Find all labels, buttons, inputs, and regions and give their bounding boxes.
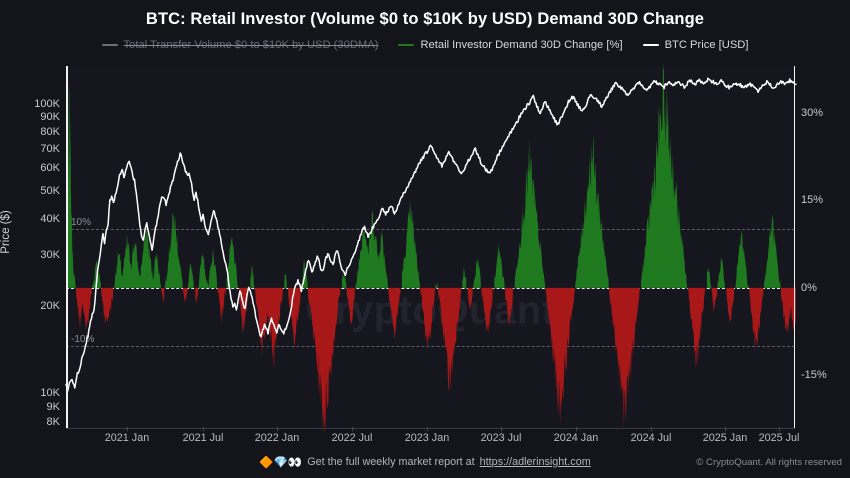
x-tick-2025-Jul: 2025 Jul (759, 432, 800, 444)
y-axis-left-ticks: 100K90K80K70K60K50K40K30K20K10K9K8K (0, 0, 60, 478)
y2-tick-30pct: 30% (801, 107, 823, 119)
legend-swatch-btc-price (643, 44, 659, 46)
y-tick-80K: 80K (40, 126, 60, 138)
x-tickmark-3 (352, 427, 353, 431)
x-tick-2022-Jul: 2022 Jul (332, 432, 373, 444)
series-retail-demand-positive (66, 62, 781, 288)
chart-legend: Total Transfer Volume $0 to $10K by USD … (0, 39, 850, 51)
y-tick-8K: 8K (47, 416, 60, 428)
x-tickmark-7 (651, 427, 652, 431)
y-tick-30K: 30K (40, 249, 60, 261)
y-tick-90K: 90K (40, 111, 60, 123)
x-tickmark-1 (203, 427, 204, 431)
y-tick-9K: 9K (47, 401, 60, 413)
y2-tick-15pct: 15% (801, 194, 823, 206)
x-tickmark-9 (779, 427, 780, 431)
y-tick-20K: 20K (40, 300, 60, 312)
legend-label-retail-investor-demand: Retail Investor Demand 30D Change [%] (420, 39, 622, 51)
chart-screenshot: BTC: Retail Investor (Volume $0 to $10K … (0, 0, 850, 478)
x-tickmark-0 (127, 427, 128, 431)
x-tick-2024-Jul: 2024 Jul (631, 432, 672, 444)
y-tick-60K: 60K (40, 162, 60, 174)
legend-item-retail-investor-demand[interactable]: Retail Investor Demand 30D Change [%] (398, 39, 622, 51)
x-tick-2023-Jan: 2023 Jan (405, 432, 449, 444)
legend-item-btc-price[interactable]: BTC Price [USD] (643, 39, 749, 51)
legend-swatch-total-transfer-volume (102, 44, 118, 46)
axis-spine-right (794, 66, 796, 428)
footer-text: Get the full weekly market report at (307, 456, 474, 468)
y2-tick-0pct: 0% (801, 282, 817, 294)
series-canvas (66, 66, 795, 428)
x-tickmark-4 (427, 427, 428, 431)
footer-report-link[interactable]: https://adlerinsight.com (480, 456, 591, 468)
legend-label-btc-price: BTC Price [USD] (665, 39, 749, 51)
x-tick-2025-Jan: 2025 Jan (703, 432, 747, 444)
x-tick-2021-Jul: 2021 Jul (183, 432, 224, 444)
y-tick-40K: 40K (40, 213, 60, 225)
x-tickmark-6 (576, 427, 577, 431)
axis-spine-bottom (66, 428, 795, 429)
y-tick-70K: 70K (40, 143, 60, 155)
x-tick-2023-Jul: 2023 Jul (481, 432, 522, 444)
legend-swatch-retail-investor-demand (398, 44, 414, 46)
x-tick-2024-Jan: 2024 Jan (554, 432, 598, 444)
plot-area: CryptoQuant 10%-10% (66, 66, 795, 428)
series-retail-demand-negative (76, 288, 796, 436)
x-tickmark-8 (725, 427, 726, 431)
footer-bar: 🔶💎👀 Get the full weekly market report at… (0, 452, 850, 478)
x-tickmark-2 (277, 427, 278, 431)
footer-copyright: © CryptoQuant. All rights reserved (696, 457, 842, 468)
legend-label-total-transfer-volume: Total Transfer Volume $0 to $10K by USD … (124, 39, 379, 51)
axis-spine-left (66, 66, 68, 428)
page-title: BTC: Retail Investor (Volume $0 to $10K … (0, 10, 850, 29)
y-tick-50K: 50K (40, 185, 60, 197)
y2-tick--15pct: -15% (801, 369, 827, 381)
diamonds-eyes-emoji: 🔶💎👀 (259, 455, 302, 469)
legend-item-total-transfer-volume[interactable]: Total Transfer Volume $0 to $10K by USD … (102, 39, 379, 51)
footer-promo: 🔶💎👀 Get the full weekly market report at… (259, 455, 590, 469)
x-tickmark-5 (501, 427, 502, 431)
y-tick-100K: 100K (34, 98, 60, 110)
y-axis-right-ticks: 30%15%0%-15% (801, 0, 849, 478)
x-tick-2022-Jan: 2022 Jan (255, 432, 299, 444)
y-tick-10K: 10K (40, 387, 60, 399)
x-tick-2021-Jan: 2021 Jan (105, 432, 149, 444)
